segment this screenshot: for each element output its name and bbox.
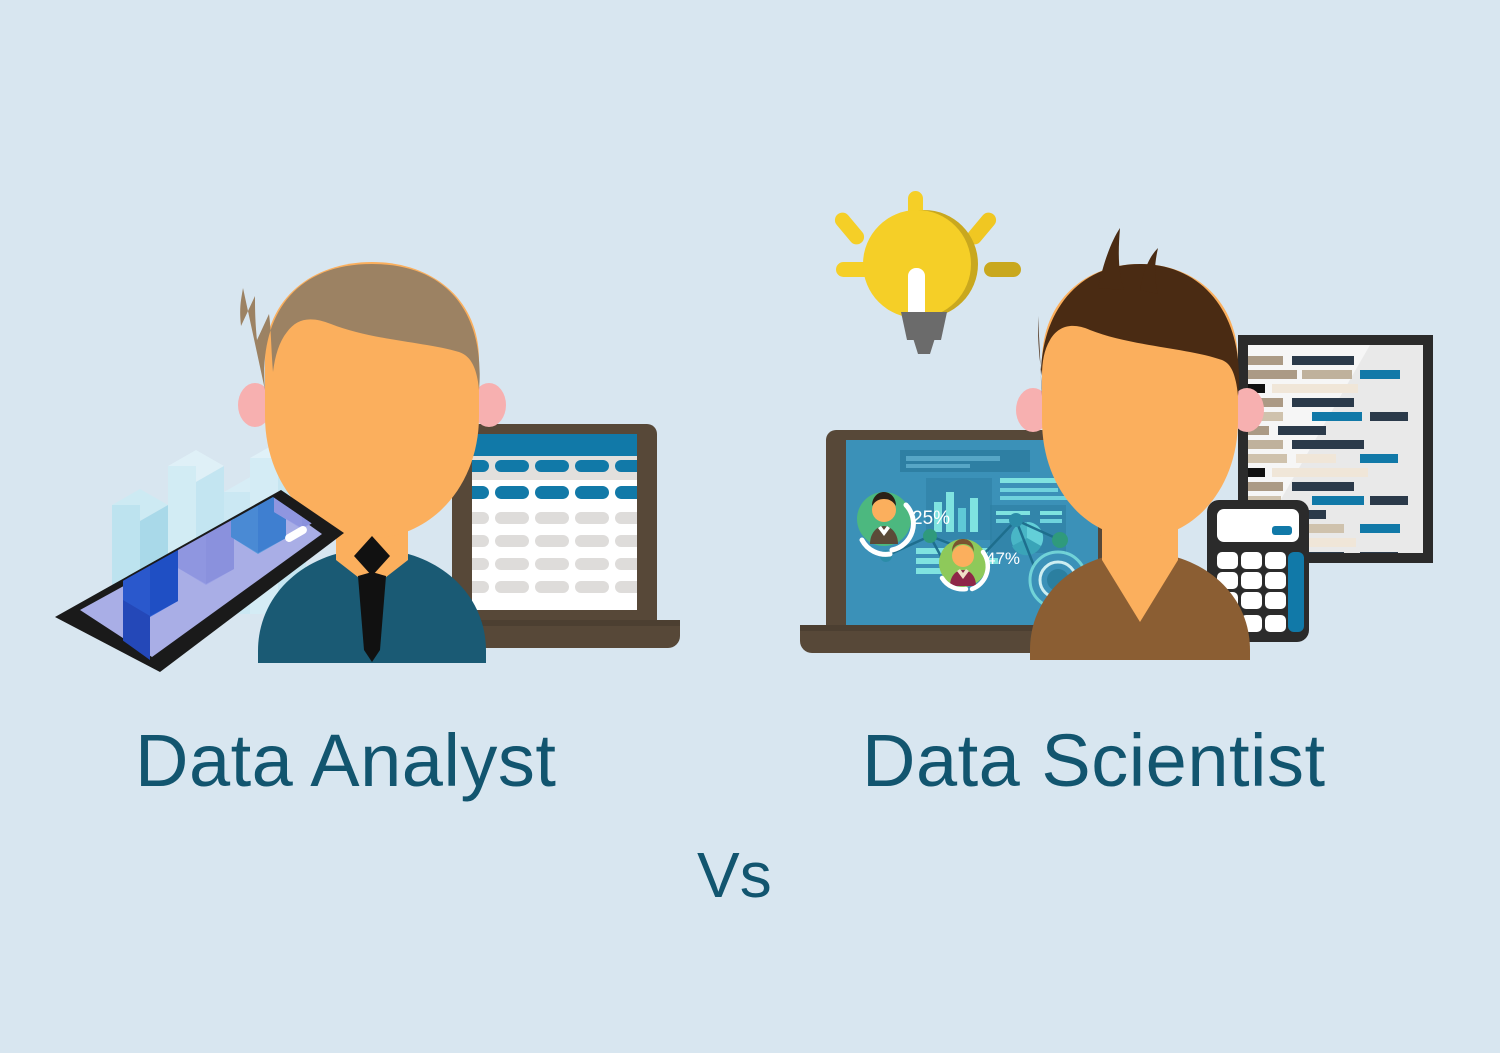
illustration-canvas: 25% 47% [0, 0, 1500, 1053]
metric-2-value: 47% [986, 549, 1020, 568]
label-versus: Vs [697, 838, 772, 912]
spreadsheet-content [455, 434, 649, 593]
lightbulb-ray-right [984, 262, 1021, 277]
laptop-with-spreadsheet[interactable] [444, 424, 680, 648]
lightbulb-base [901, 312, 947, 340]
data-analyst-character [238, 262, 506, 663]
label-data-analyst: Data Analyst [135, 718, 556, 803]
label-data-scientist: Data Scientist [862, 718, 1326, 803]
metric-1-value: 25% [912, 508, 950, 529]
